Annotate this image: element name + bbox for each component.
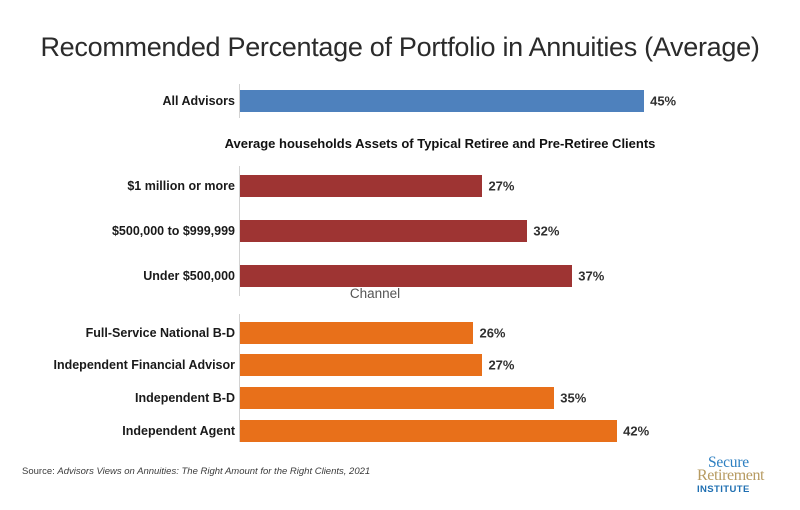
logo-line-retirement: Retirement — [697, 468, 789, 484]
bar-fill — [240, 90, 644, 112]
bar[interactable] — [240, 90, 644, 112]
group-header-channel: Channel — [240, 286, 510, 301]
bar-row[interactable]: Independent Agent42% — [0, 420, 800, 442]
source-note: Source: Advisors Views on Annuities: The… — [22, 466, 370, 477]
bar-value-label: 26% — [479, 326, 505, 341]
bar-fill — [240, 387, 554, 409]
bar-value-label: 37% — [578, 269, 604, 284]
bar[interactable] — [240, 175, 482, 197]
bar-value-label: 32% — [533, 224, 559, 239]
bar-category-label: $500,000 to $999,999 — [112, 224, 235, 238]
bar[interactable] — [240, 387, 554, 409]
bar-fill — [240, 175, 482, 197]
bar[interactable] — [240, 220, 527, 242]
bar-fill — [240, 220, 527, 242]
bar-fill — [240, 354, 482, 376]
source-title: Advisors Views on Annuities: The Right A… — [57, 466, 370, 477]
bar-category-label: Independent Financial Advisor — [53, 358, 235, 372]
logo-line-institute: INSTITUTE — [697, 485, 789, 495]
bar[interactable] — [240, 322, 473, 344]
bar-row[interactable]: All Advisors45% — [0, 90, 800, 112]
bar-row[interactable]: Independent Financial Advisor27% — [0, 354, 800, 376]
bar-category-label: Full-Service National B-D — [86, 326, 235, 340]
bar-category-label: All Advisors — [163, 94, 235, 108]
chart-plot-area: Average households Assets of Typical Ret… — [0, 82, 800, 442]
bar-row[interactable]: $500,000 to $999,99932% — [0, 220, 800, 242]
bar-value-label: 42% — [623, 424, 649, 439]
bar-value-label: 27% — [488, 358, 514, 373]
bar-category-label: $1 million or more — [127, 179, 235, 193]
bar-value-label: 45% — [650, 94, 676, 109]
bar-fill — [240, 265, 572, 287]
bar-category-label: Independent Agent — [122, 424, 235, 438]
page-title: Recommended Percentage of Portfolio in A… — [0, 32, 800, 63]
bar-row[interactable]: $1 million or more27% — [0, 175, 800, 197]
bar-row[interactable]: Independent B-D35% — [0, 387, 800, 409]
bar[interactable] — [240, 265, 572, 287]
bar-fill — [240, 322, 473, 344]
bar[interactable] — [240, 354, 482, 376]
bar-fill — [240, 420, 617, 442]
bar-value-label: 35% — [560, 391, 586, 406]
bar-row[interactable]: Under $500,00037% — [0, 265, 800, 287]
bar-row[interactable]: Full-Service National B-D26% — [0, 322, 800, 344]
bar-category-label: Under $500,000 — [143, 269, 235, 283]
bar-value-label: 27% — [488, 179, 514, 194]
source-label: Source: — [22, 466, 57, 477]
bar[interactable] — [240, 420, 617, 442]
bar-category-label: Independent B-D — [135, 391, 235, 405]
secure-retirement-institute-logo: Secure Retirement INSTITUTE — [697, 455, 789, 495]
group-header-assets: Average households Assets of Typical Ret… — [120, 136, 760, 151]
